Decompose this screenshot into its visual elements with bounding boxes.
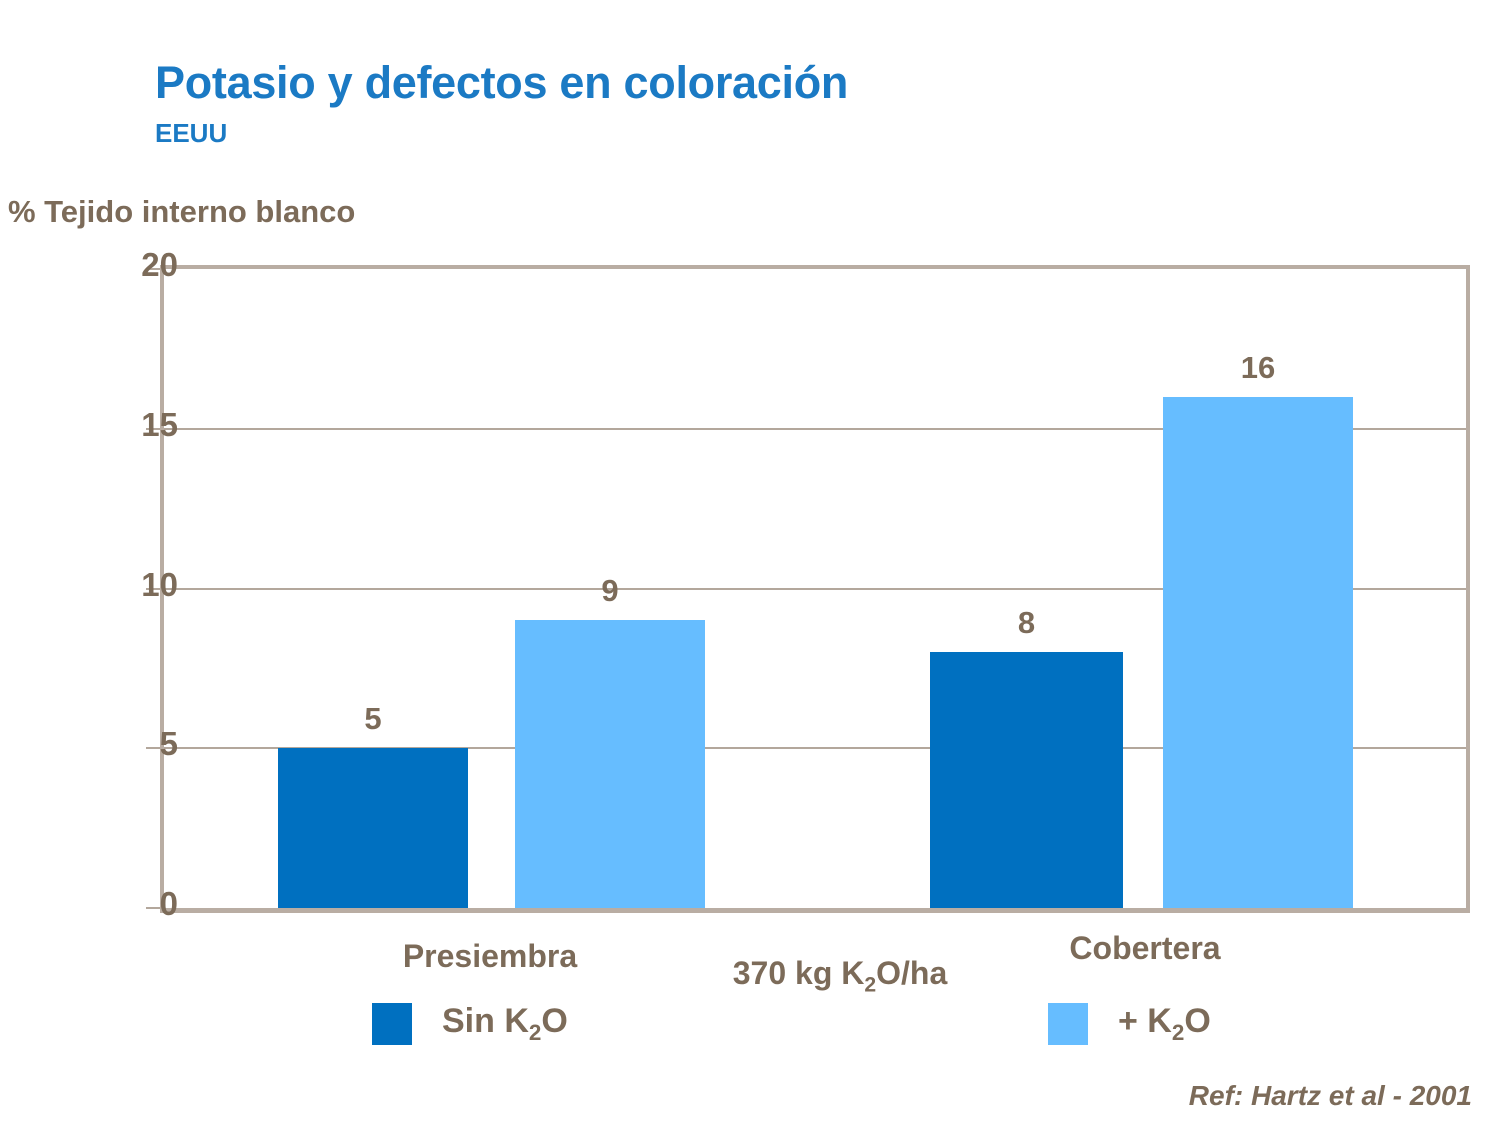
x-axis-note: 370 kg K2O/ha bbox=[600, 955, 1080, 997]
chart-title: Potasio y defectos en coloración bbox=[155, 57, 848, 109]
bar-value-label: 16 bbox=[1163, 350, 1353, 386]
source-reference: Ref: Hartz et al - 2001 bbox=[1189, 1080, 1472, 1112]
bar-presiembra-series-1[interactable] bbox=[278, 748, 468, 908]
bar-value-label: 9 bbox=[515, 573, 705, 609]
chart-subtitle: EEUU bbox=[155, 118, 227, 149]
bar-presiembra-series-2[interactable] bbox=[515, 620, 705, 908]
legend-label-plus-k2o: + K2O bbox=[1118, 1002, 1211, 1046]
y-axis-tick-label: 20 bbox=[58, 246, 178, 284]
y-axis-tick-label: 5 bbox=[58, 725, 178, 763]
legend-swatch-plus-k2o bbox=[1048, 1003, 1088, 1045]
legend-entry-plus-k2o[interactable]: + K2O bbox=[1048, 1002, 1211, 1046]
bar-cobertera-series-1[interactable] bbox=[930, 652, 1123, 908]
bar-value-label: 8 bbox=[930, 605, 1123, 641]
legend: Sin K2O + K2O bbox=[0, 998, 1500, 1058]
y-axis-tick-label: 10 bbox=[58, 566, 178, 604]
legend-label-sin-k2o: Sin K2O bbox=[442, 1002, 568, 1046]
bar-value-label: 5 bbox=[278, 701, 468, 737]
legend-swatch-sin-k2o bbox=[372, 1003, 412, 1045]
bar-cobertera-series-2[interactable] bbox=[1163, 397, 1353, 908]
plot-inner: 59816 bbox=[164, 269, 1466, 908]
y-axis-tick-label: 15 bbox=[58, 406, 178, 444]
y-axis-title: % Tejido interno blanco bbox=[8, 194, 355, 230]
y-axis-tick-label: 0 bbox=[58, 885, 178, 923]
legend-entry-sin-k2o[interactable]: Sin K2O bbox=[372, 1002, 568, 1046]
